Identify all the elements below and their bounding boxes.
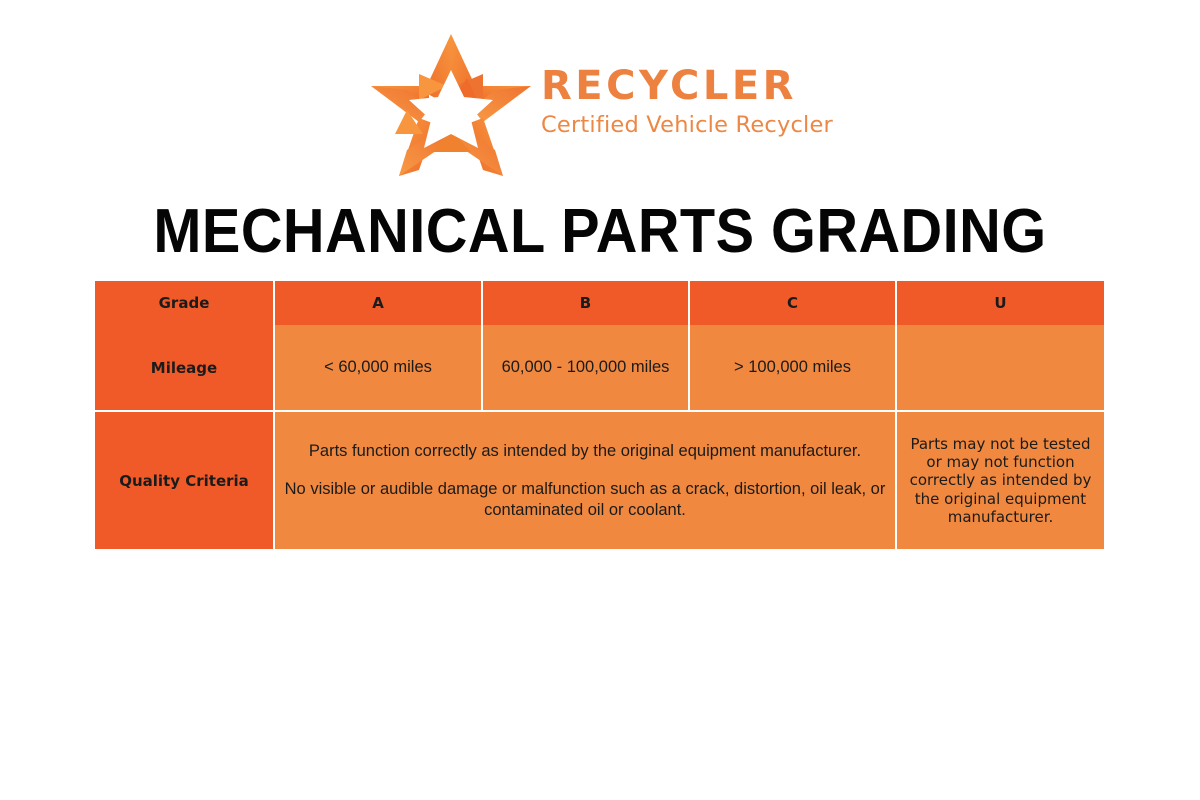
page-title: MECHANICAL PARTS GRADING xyxy=(42,196,1158,267)
row-label-mileage: Mileage xyxy=(95,325,275,412)
cell-mileage-a: < 60,000 miles xyxy=(275,325,483,412)
cell-mileage-u xyxy=(897,325,1104,412)
cell-mileage-b: 60,000 - 100,000 miles xyxy=(483,325,690,412)
brand-logo: RECYCLER Certified Vehicle Recycler xyxy=(0,30,1200,180)
row-label-quality-criteria: Quality Criteria xyxy=(95,412,275,549)
logo-wordmark: RECYCLER xyxy=(541,65,833,107)
logo-inner: RECYCLER Certified Vehicle Recycler xyxy=(367,30,833,180)
header-cell-grade-b: B xyxy=(483,281,690,325)
cell-quality-criteria-abc: Parts function correctly as intended by … xyxy=(275,412,897,549)
header-cell-grade-u: U xyxy=(897,281,1104,325)
table-row-mileage: Mileage < 60,000 miles 60,000 - 100,000 … xyxy=(95,325,1104,412)
logo-text-block: RECYCLER Certified Vehicle Recycler xyxy=(541,65,833,145)
table-row-quality-criteria: Quality Criteria Parts function correctl… xyxy=(95,412,1104,549)
header-cell-grade-c: C xyxy=(690,281,897,325)
cell-quality-criteria-u: Parts may not be tested or may not funct… xyxy=(897,412,1104,549)
recycling-star-logo-icon xyxy=(367,30,535,180)
table-header-row: Grade A B C U xyxy=(95,281,1104,325)
criteria-paragraph-2: No visible or audible damage or malfunct… xyxy=(283,479,887,520)
criteria-paragraph-1: Parts function correctly as intended by … xyxy=(283,441,887,462)
grading-table: Grade A B C U Mileage < 60,000 miles 60,… xyxy=(95,281,1104,549)
header-cell-grade-a: A xyxy=(275,281,483,325)
cell-mileage-c: > 100,000 miles xyxy=(690,325,897,412)
header-cell-grade: Grade xyxy=(95,281,275,325)
logo-tagline: Certified Vehicle Recycler xyxy=(541,111,833,139)
